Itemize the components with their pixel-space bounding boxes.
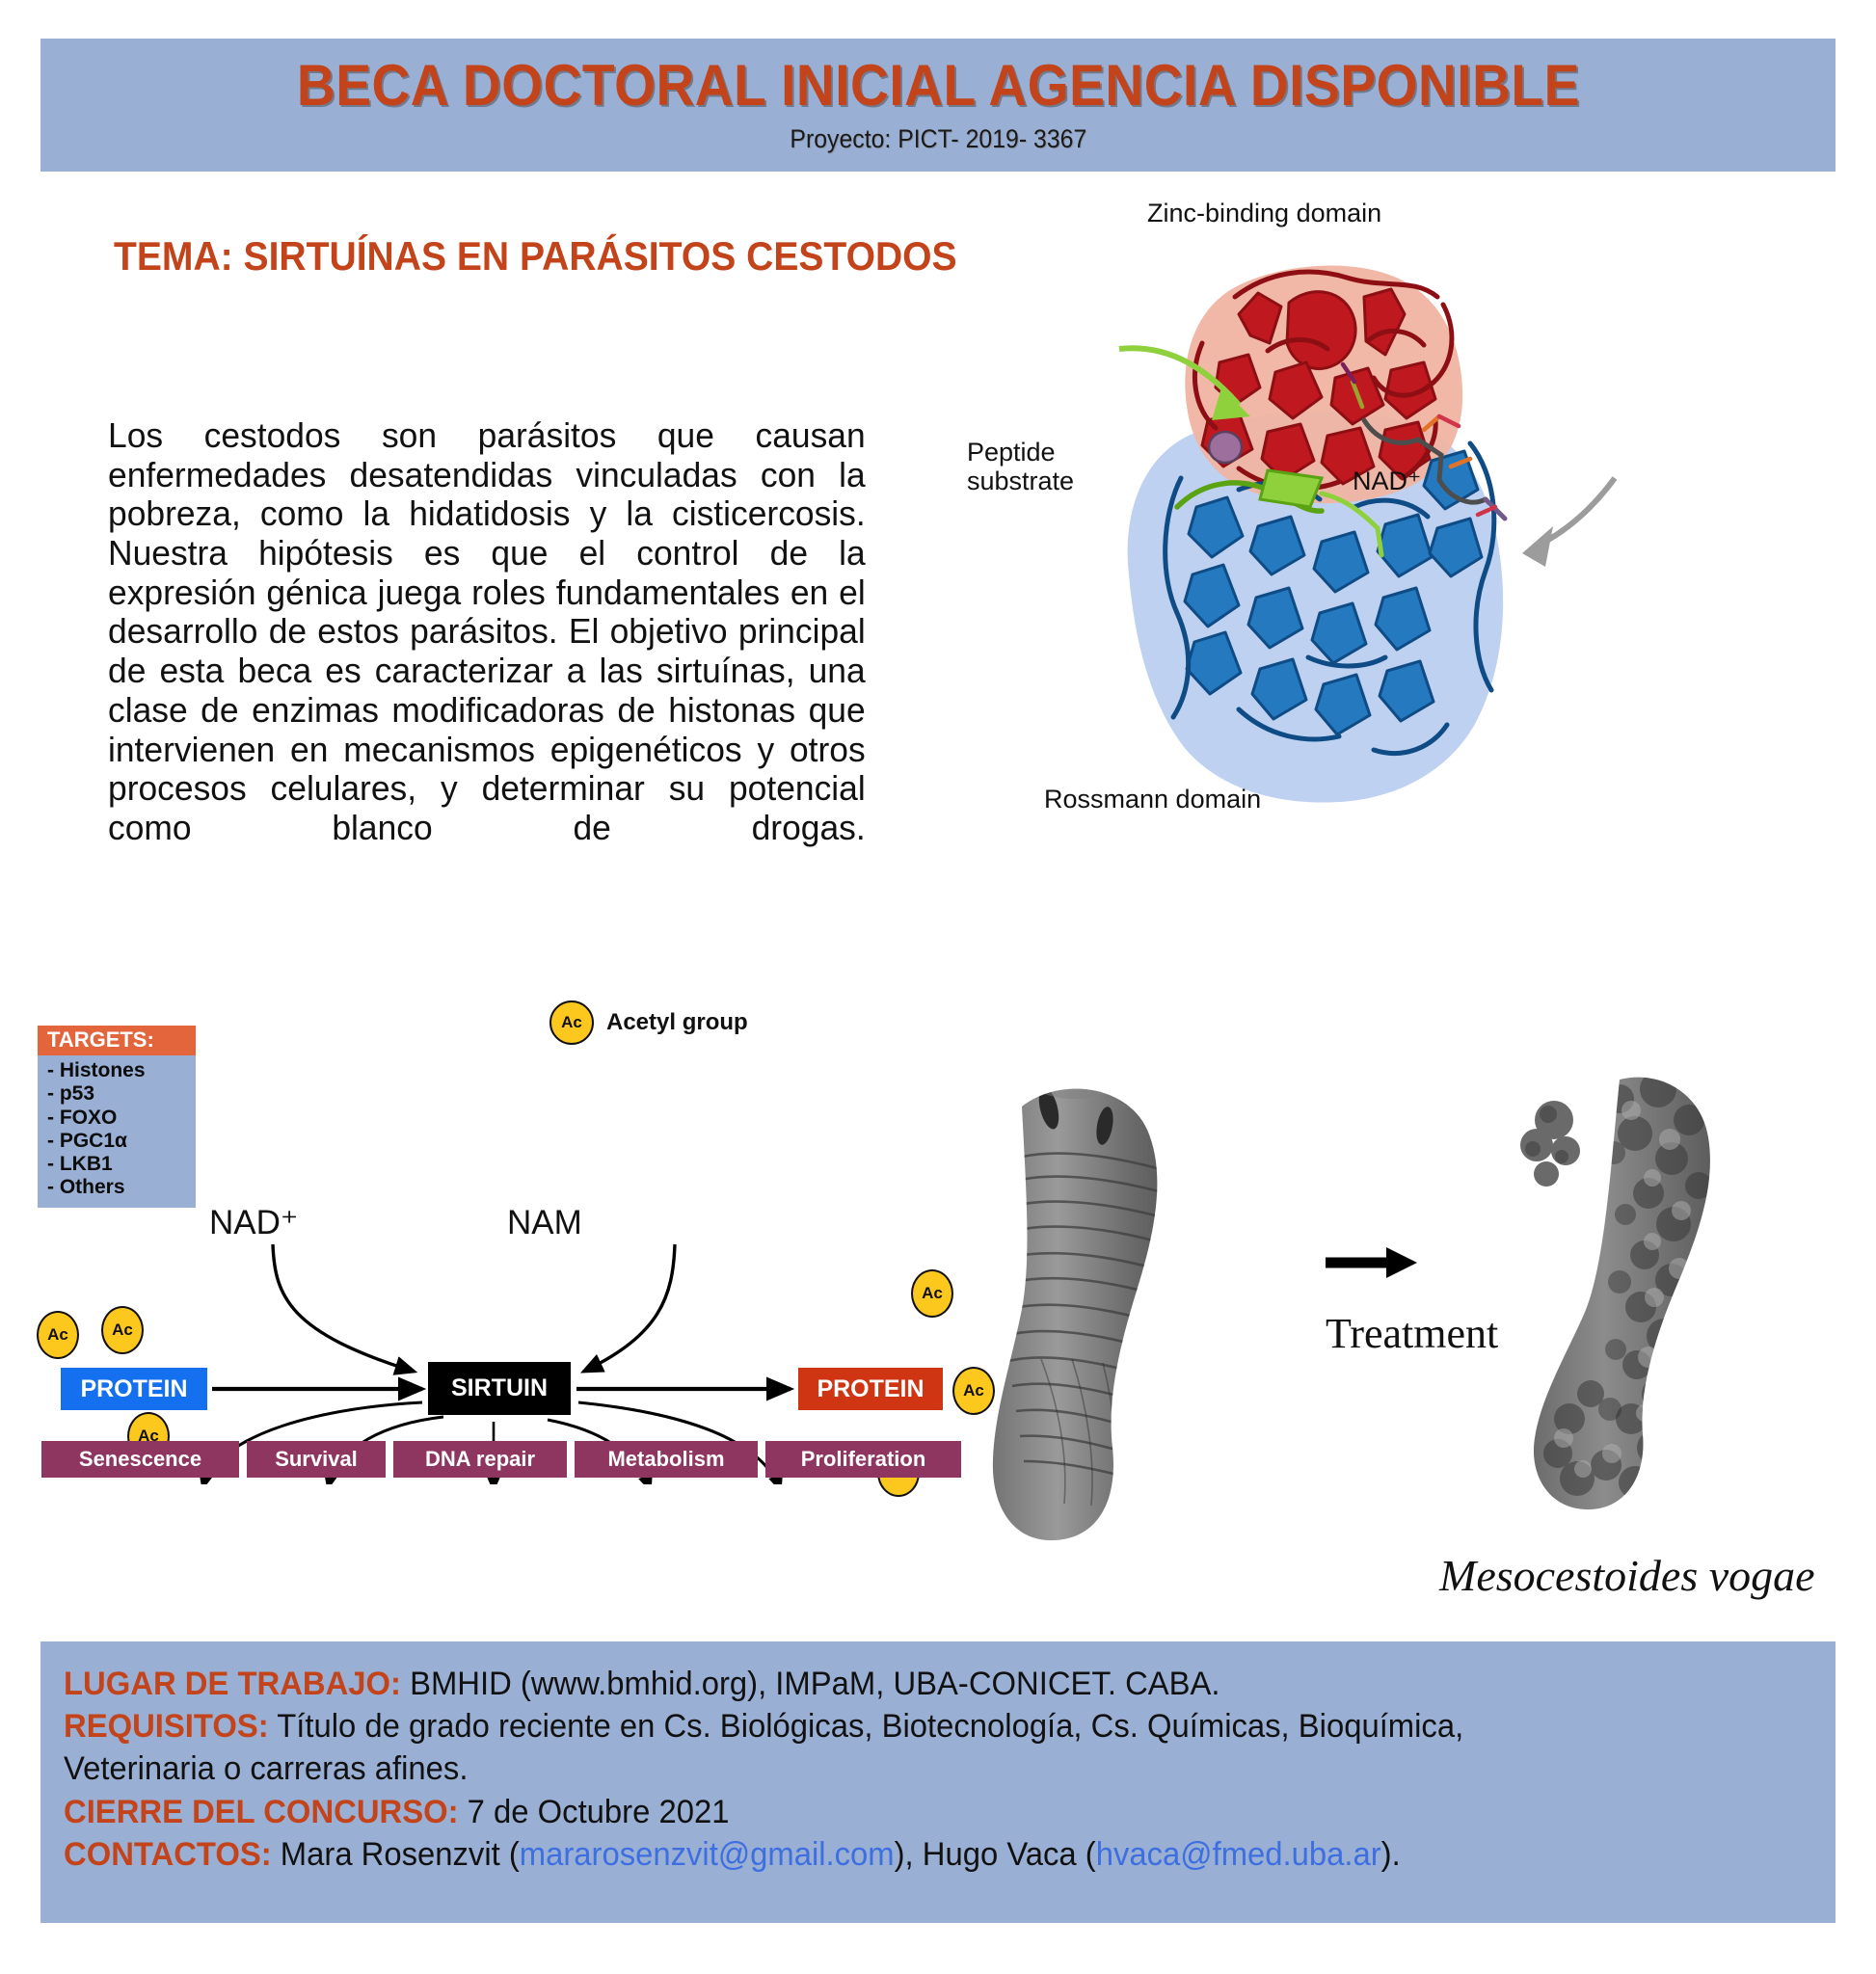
nad-label: NAD⁺ [209,1204,298,1242]
footer-panel: LUGAR DE TRABAJO: BMHID (www.bmhid.org),… [40,1641,1836,1923]
acetyl-legend-label: Acetyl group [606,1009,748,1036]
targets-header: TARGETS: [38,1026,196,1055]
list-item: - p53 [47,1082,188,1106]
footer-value-workplace: BMHID (www.bmhid.org), IMPaM, UBA-CONICE… [401,1666,1220,1702]
rossmann-domain-label: Rossmann domain [1044,785,1261,814]
species-caption: Mesocestoides vogae [1439,1550,1815,1601]
footer-key-requirements: REQUISITOS: [64,1708,269,1745]
list-item: - FOXO [47,1107,188,1130]
footer-line-workplace: LUGAR DE TRABAJO: BMHID (www.bmhid.org),… [64,1663,1756,1705]
footer-contacts-post: ). [1381,1836,1401,1873]
acetyl-group-icon: Ac [101,1306,144,1354]
footer-value-deadline: 7 de Octubre 2021 [459,1794,730,1830]
footer-contacts-mid: ), Hugo Vaca ( [895,1836,1096,1873]
footer-value-requirements: Título de grado reciente en Cs. Biológic… [269,1708,1464,1745]
body-paragraph: Los cestodos son parásitos que causan en… [108,416,866,887]
list-item: - PGC1α [47,1130,188,1153]
acetyl-group-icon: Ac [37,1311,79,1359]
header-banner: BECA DOCTORAL INICIAL AGENCIA DISPONIBLE… [40,39,1836,172]
list-item: - Others [47,1176,188,1199]
protein-ribbon-graphic [950,189,1856,815]
targets-list: - Histones - p53 - FOXO - PGC1α - LKB1 -… [38,1055,196,1208]
footer-line-requirements-cont: Veterinaria o carreras afines. [64,1747,1756,1790]
nad-ligand-label: NAD⁺ [1353,467,1421,495]
acetyl-group-icon: Ac [549,1000,594,1045]
zinc-binding-domain-label: Zinc-binding domain [1147,199,1381,227]
peptide-substrate-label: Peptide substrate [967,438,1074,495]
acetyl-group-icon: Ac [911,1269,953,1318]
peptide-substrate-line2: substrate [967,467,1074,495]
treatment-arrow [1326,1247,1417,1278]
protein-product-box: PROTEIN [798,1368,943,1410]
page-title: BECA DOCTORAL INICIAL AGENCIA DISPONIBLE [296,57,1579,115]
footer-value-requirements-cont: Veterinaria o carreras afines. [64,1750,468,1787]
contact-email-2[interactable]: hvaca@fmed.uba.ar [1096,1836,1381,1873]
peptide-substrate-line1: Peptide [967,438,1056,467]
project-subtitle: Proyecto: PICT- 2019- 3367 [790,124,1086,154]
outcome-metabolism: Metabolism [575,1441,758,1478]
outcome-dna-repair: DNA repair [393,1441,567,1478]
targets-box: TARGETS: - Histones - p53 - FOXO - PGC1α… [38,1026,196,1208]
footer-key-deadline: CIERRE DEL CONCURSO: [64,1794,459,1830]
list-item: - LKB1 [47,1153,188,1176]
footer-key-workplace: LUGAR DE TRABAJO: [64,1666,401,1702]
poster-root: BECA DOCTORAL INICIAL AGENCIA DISPONIBLE… [0,0,1876,1974]
sirtuin-box: SIRTUIN [428,1362,571,1415]
footer-line-deadline: CIERRE DEL CONCURSO: 7 de Octubre 2021 [64,1791,1756,1833]
nam-label: NAM [507,1204,582,1242]
acetyl-legend: Ac Acetyl group [549,1000,748,1045]
footer-key-contacts: CONTACTOS: [64,1836,272,1873]
contact-email-1[interactable]: mararosenzvit@gmail.com [520,1836,895,1873]
sirtuin-reaction-diagram: NAD⁺ NAM PROTEIN SIRTUIN PROTEIN Ac Ac A… [19,1210,993,1484]
protein-substrate-box: PROTEIN [61,1368,207,1410]
topic-heading: TEMA: SIRTUÍNAS EN PARÁSITOS CESTODOS [114,233,957,280]
footer-line-contacts: CONTACTOS: Mara Rosenzvit (mararosenzvit… [64,1833,1756,1876]
treatment-label: Treatment [1326,1309,1498,1358]
outcome-senescence: Senescence [41,1441,239,1478]
footer-line-requirements: REQUISITOS: Título de grado reciente en … [64,1705,1756,1747]
outcome-survival: Survival [247,1441,386,1478]
sirtuin-structure-figure: Zinc-binding domain Peptide substrate NA… [950,189,1856,815]
list-item: - Histones [47,1059,188,1082]
outcome-proliferation: Proliferation [765,1441,961,1478]
footer-contacts-pre: Mara Rosenzvit ( [272,1836,520,1873]
